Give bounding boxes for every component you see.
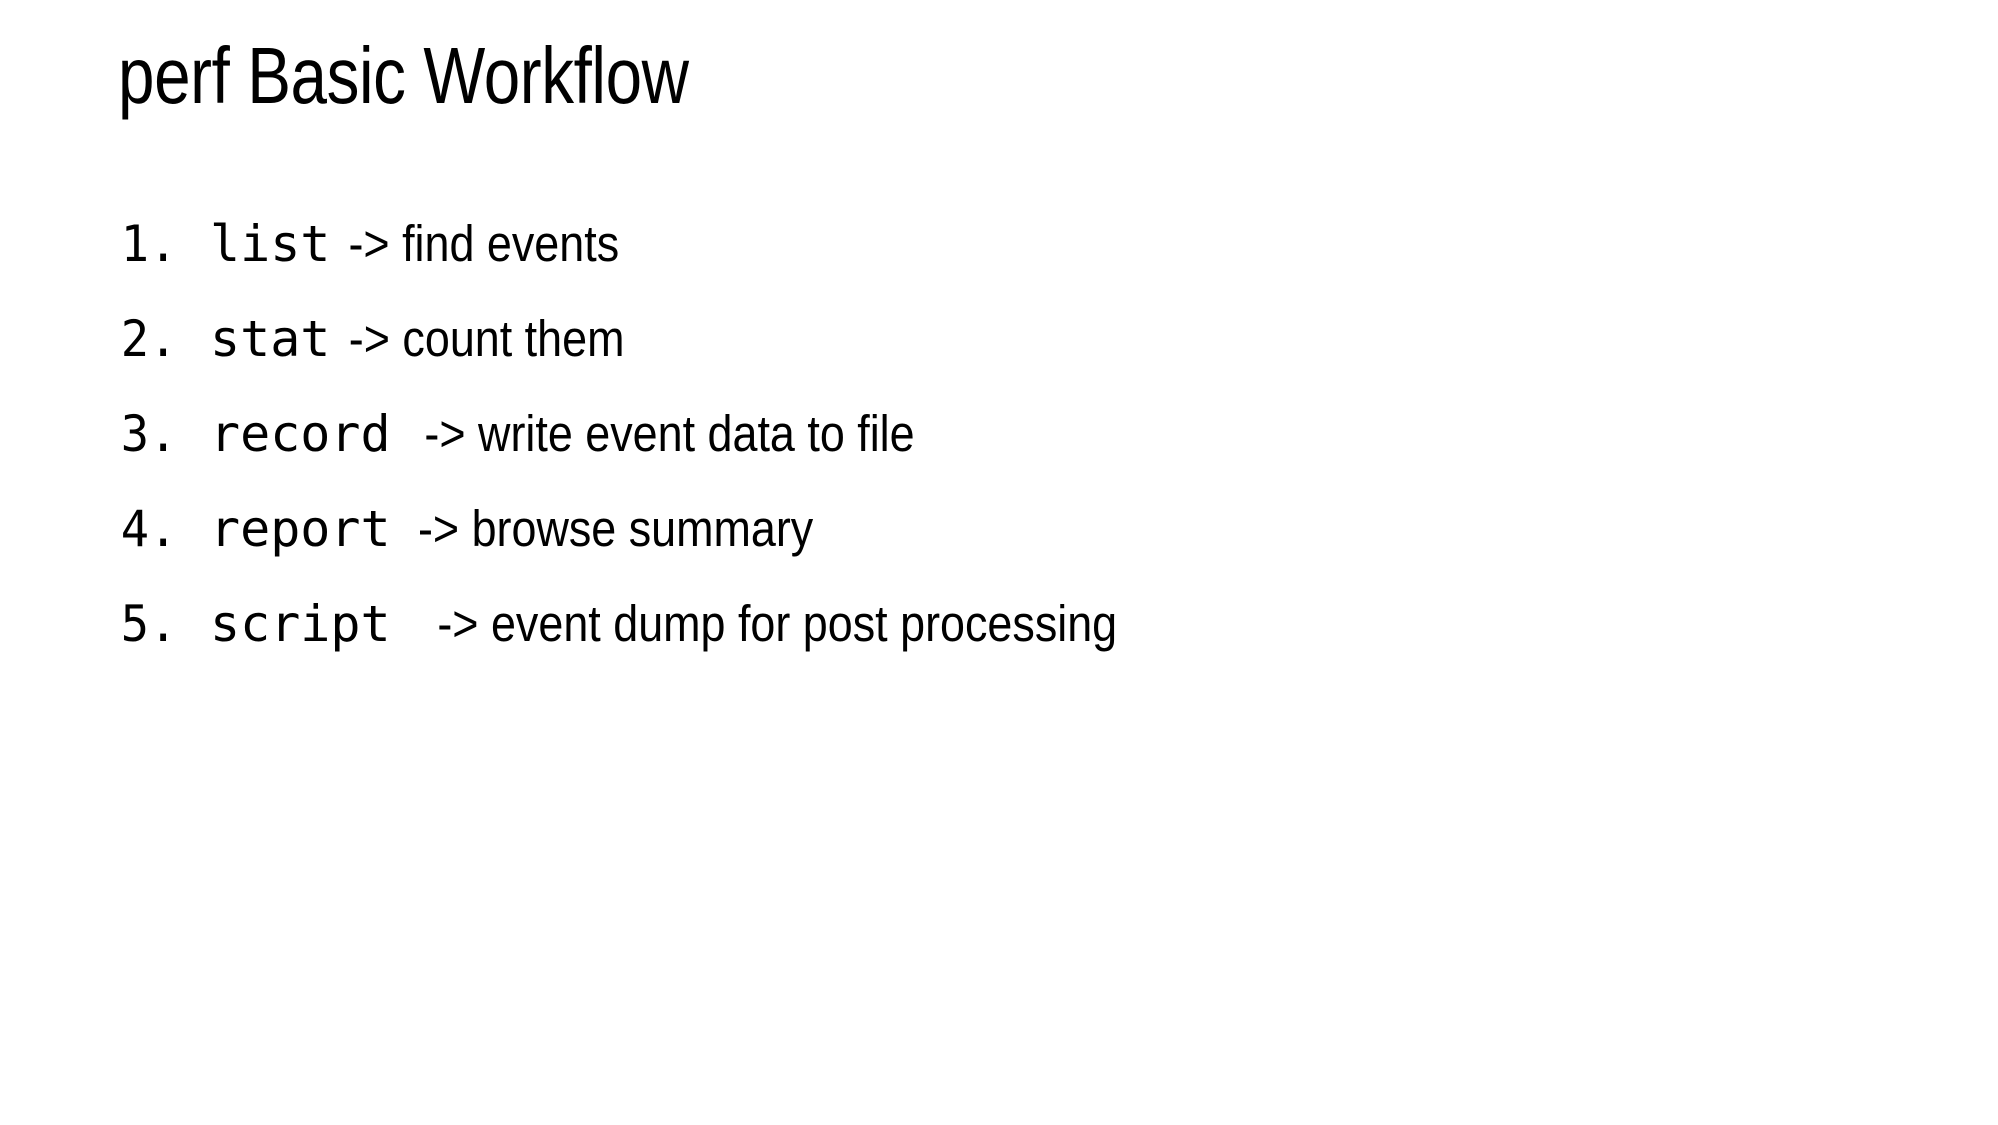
list-item-command: list: [210, 215, 330, 273]
list-item-command: record: [210, 405, 391, 463]
list-item-number: 1.: [121, 197, 207, 292]
list-item-number: 2.: [121, 292, 207, 387]
list-item-number: 3.: [121, 387, 207, 482]
list-item-body: script -> event dump for post processing: [210, 576, 1163, 672]
list-item-command: stat: [210, 310, 330, 368]
list-item: 1. list -> find events: [118, 196, 1818, 291]
slide-canvas: perf Basic Workflow 1. list -> find even…: [0, 0, 1998, 1125]
list-item-description: -> browse summary: [418, 481, 813, 576]
list-item: 4. report -> browse summary: [118, 481, 1818, 576]
list-item-command: report: [210, 500, 391, 558]
list-item-number: 4.: [121, 482, 207, 577]
list-item-description: -> find events: [349, 196, 620, 291]
list-item-body: list -> find events: [210, 196, 638, 292]
list-item: 3. record-> write event data to file: [118, 386, 1818, 481]
list-item: 2. stat -> count them: [118, 291, 1818, 386]
list-item-description: -> write event data to file: [424, 386, 914, 481]
workflow-list: 1. list -> find events 2. stat -> count …: [118, 196, 1818, 671]
list-item-description: -> event dump for post processing: [437, 576, 1117, 671]
list-item-command: script: [210, 595, 391, 653]
list-item-body: stat -> count them: [210, 291, 644, 387]
list-item-number: 5.: [121, 577, 207, 672]
list-item: 5. script -> event dump for post process…: [118, 576, 1818, 671]
page-title: perf Basic Workflow: [118, 28, 689, 124]
list-item-description: -> count them: [349, 291, 625, 386]
list-item-body: record-> write event data to file: [210, 386, 948, 482]
list-item-body: report -> browse summary: [210, 481, 840, 577]
